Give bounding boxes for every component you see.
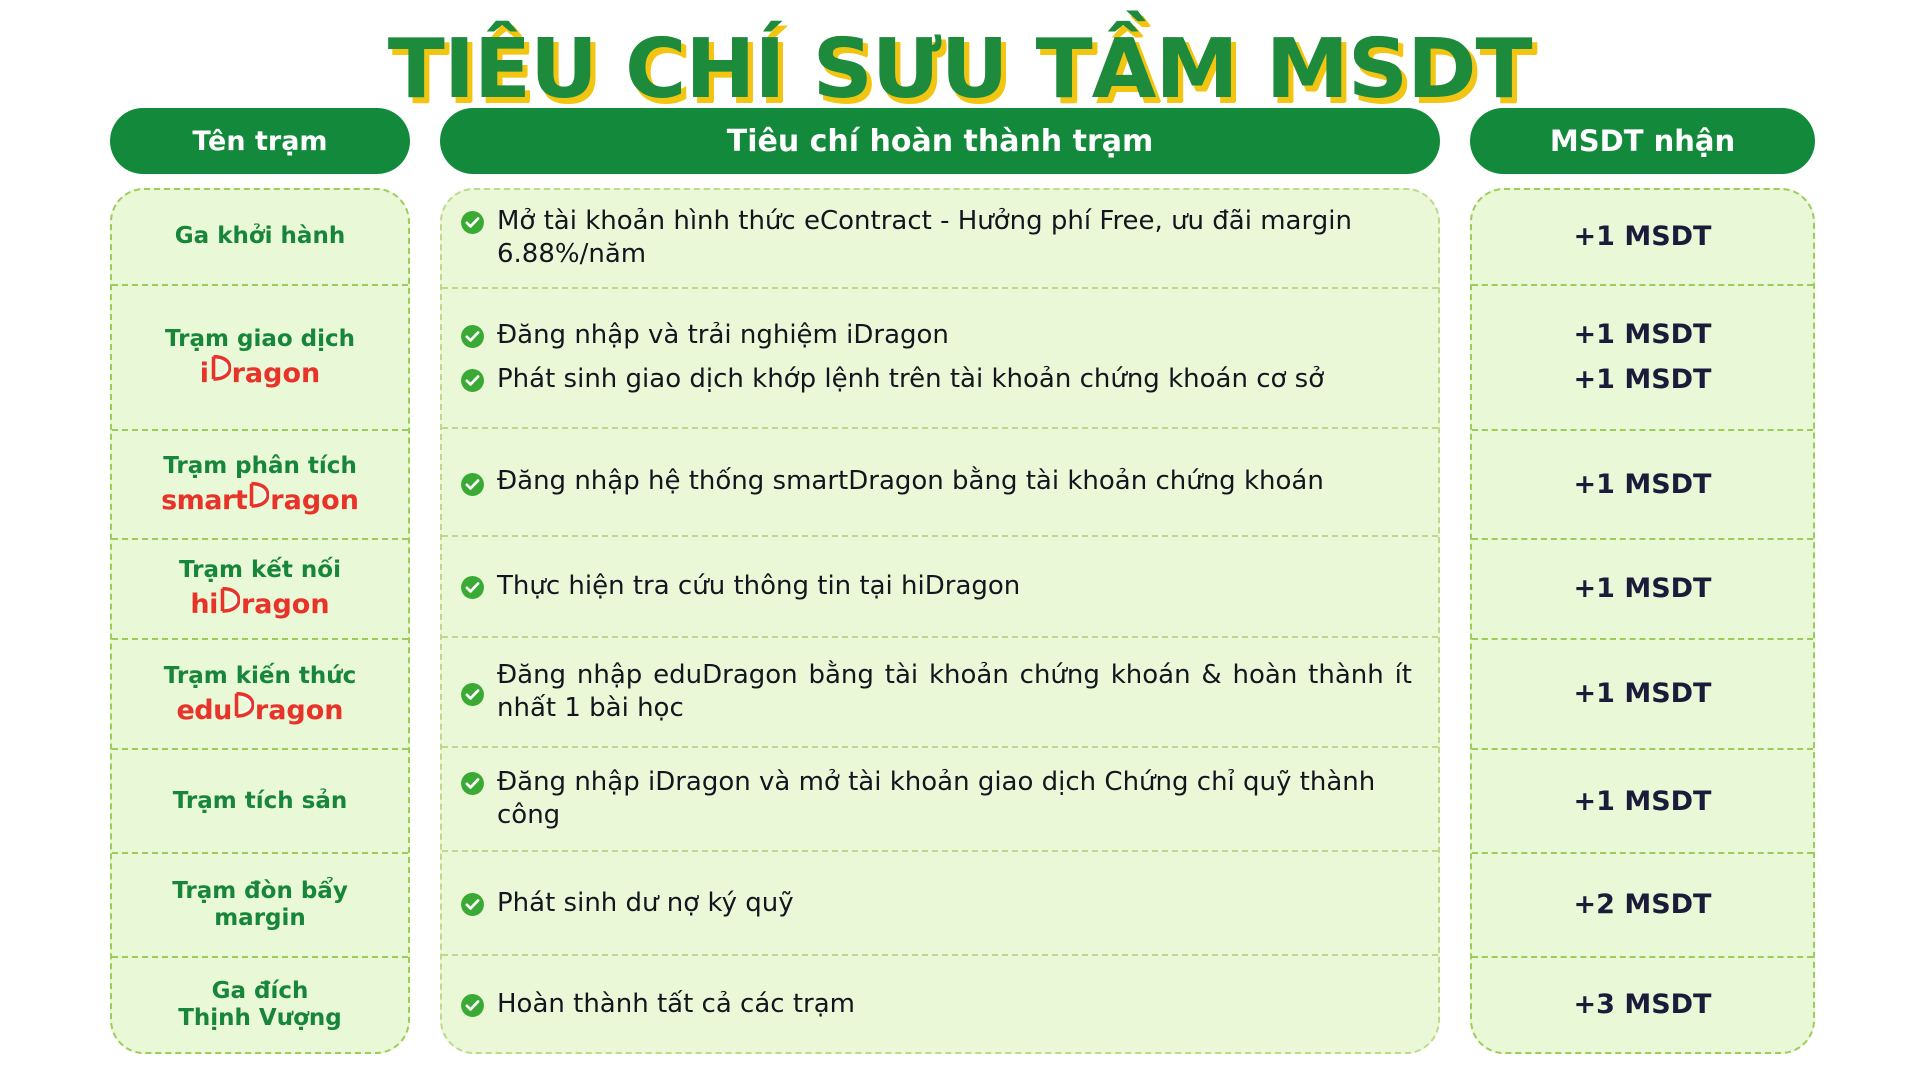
station-cell: Trạm đòn bẩymargin bbox=[112, 854, 408, 958]
msdt-cell: +3 MSDT bbox=[1472, 958, 1813, 1052]
brand-prefix: edu bbox=[176, 696, 231, 726]
criteria-item: Đăng nhập hệ thống smartDragon bằng tài … bbox=[460, 460, 1412, 503]
criteria-item: Mở tài khoản hình thức eContract - Hưởng… bbox=[460, 200, 1412, 277]
station-name-line: Trạm đòn bẩy bbox=[172, 878, 348, 905]
criteria-text: Đăng nhập và trải nghiệm iDragon bbox=[497, 319, 949, 352]
criteria-text: Đăng nhập hệ thống smartDragon bằng tài … bbox=[497, 465, 1324, 498]
msdt-value: +1 MSDT bbox=[1574, 221, 1712, 252]
dragon-brand-logo: eduragon bbox=[176, 692, 343, 726]
station-cell: Ga đíchThịnh Vượng bbox=[112, 958, 408, 1052]
msdt-value: +1 MSDT bbox=[1574, 786, 1712, 817]
criteria-item: Phát sinh dư nợ ký quỹ bbox=[460, 882, 1412, 925]
dragon-brand-logo: iragon bbox=[200, 355, 320, 389]
criteria-cell: Hoàn thành tất cả các trạm bbox=[442, 956, 1438, 1052]
criteria-cell: Đăng nhập và trải nghiệm iDragonPhát sin… bbox=[442, 289, 1438, 429]
station-cell: Trạm kết nốihiragon bbox=[112, 540, 408, 640]
table-header-msdt: MSDT nhận bbox=[1470, 108, 1815, 174]
brand-suffix: ragon bbox=[255, 696, 344, 726]
station-name-line: Trạm kết nối bbox=[179, 557, 341, 584]
dragon-brand-logo: smartragon bbox=[161, 482, 359, 516]
criteria-text: Mở tài khoản hình thức eContract - Hưởng… bbox=[497, 205, 1412, 272]
brand-prefix: i bbox=[200, 359, 209, 389]
msdt-cell: +1 MSDT bbox=[1472, 750, 1813, 854]
criteria-text: Hoàn thành tất cả các trạm bbox=[497, 988, 855, 1021]
brand-suffix: ragon bbox=[270, 486, 359, 516]
criteria-cell: Đăng nhập iDragon và mở tài khoản giao d… bbox=[442, 748, 1438, 852]
station-name-line: Thịnh Vượng bbox=[178, 1005, 342, 1032]
check-circle-icon bbox=[460, 575, 485, 600]
station-name-line: Ga đích bbox=[212, 978, 309, 1005]
criteria-cell: Phát sinh dư nợ ký quỹ bbox=[442, 852, 1438, 956]
dragon-brand-logo: hiragon bbox=[190, 586, 329, 620]
criteria-item: Đăng nhập eduDragon bằng tài khoản chứng… bbox=[460, 654, 1412, 731]
criteria-cell: Đăng nhập hệ thống smartDragon bằng tài … bbox=[442, 429, 1438, 538]
msdt-value: +1 MSDT bbox=[1574, 573, 1712, 604]
msdt-cell: +1 MSDT bbox=[1472, 190, 1813, 286]
criteria-text: Phát sinh dư nợ ký quỹ bbox=[497, 887, 794, 920]
dragon-d-logo-icon bbox=[219, 586, 240, 613]
station-name-line: Trạm giao dịch bbox=[165, 326, 355, 353]
criteria-item: Thực hiện tra cứu thông tin tại hiDragon bbox=[460, 565, 1412, 608]
brand-prefix: hi bbox=[190, 590, 217, 620]
criteria-item: Đăng nhập và trải nghiệm iDragon bbox=[460, 314, 1412, 357]
check-circle-icon bbox=[460, 682, 485, 707]
criteria-column: Mở tài khoản hình thức eContract - Hưởng… bbox=[440, 188, 1440, 1054]
check-circle-icon bbox=[460, 993, 485, 1018]
dragon-d-logo-icon bbox=[210, 355, 231, 382]
station-cell: Trạm phân tíchsmartragon bbox=[112, 431, 408, 540]
station-name-line: Ga khởi hành bbox=[175, 223, 345, 250]
station-name-column: Ga khởi hànhTrạm giao dịchiragonTrạm phâ… bbox=[110, 188, 410, 1054]
check-circle-icon bbox=[460, 892, 485, 917]
station-cell: Trạm kiến thứceduragon bbox=[112, 640, 408, 751]
station-cell: Trạm tích sản bbox=[112, 750, 408, 854]
check-circle-icon bbox=[460, 324, 485, 349]
dragon-d-logo-icon bbox=[248, 482, 269, 509]
station-cell: Ga khởi hành bbox=[112, 190, 408, 286]
check-circle-icon bbox=[460, 771, 485, 796]
msdt-cell: +1 MSDT bbox=[1472, 540, 1813, 640]
msdt-cell: +1 MSDT bbox=[1472, 431, 1813, 540]
brand-prefix: smart bbox=[161, 486, 247, 516]
msdt-value: +2 MSDT bbox=[1574, 889, 1712, 920]
msdt-value: +1 MSDT bbox=[1574, 364, 1712, 395]
criteria-item: Đăng nhập iDragon và mở tài khoản giao d… bbox=[460, 761, 1412, 838]
check-circle-icon bbox=[460, 210, 485, 235]
msdt-value: +1 MSDT bbox=[1574, 469, 1712, 500]
table-header-criteria: Tiêu chí hoàn thành trạm bbox=[440, 108, 1440, 174]
criteria-cell: Đăng nhập eduDragon bằng tài khoản chứng… bbox=[442, 638, 1438, 748]
msdt-cell: +2 MSDT bbox=[1472, 854, 1813, 958]
page-title: TIÊU CHÍ SƯU TẦM MSDT bbox=[388, 22, 1532, 117]
poster-root: TIÊU CHÍ SƯU TẦM MSDT Tên trạm Tiêu chí … bbox=[0, 0, 1920, 1080]
station-name-line: margin bbox=[214, 905, 306, 932]
criteria-text: Đăng nhập iDragon và mở tài khoản giao d… bbox=[497, 766, 1412, 833]
msdt-value: +3 MSDT bbox=[1574, 989, 1712, 1020]
criteria-text: Đăng nhập eduDragon bằng tài khoản chứng… bbox=[497, 659, 1412, 726]
station-name-line: Trạm tích sản bbox=[173, 788, 347, 815]
check-circle-icon bbox=[460, 472, 485, 497]
station-name-line: Trạm kiến thức bbox=[164, 663, 357, 690]
dragon-d-logo-icon bbox=[233, 692, 254, 719]
brand-suffix: ragon bbox=[232, 359, 321, 389]
criteria-item: Hoàn thành tất cả các trạm bbox=[460, 983, 1412, 1026]
criteria-cell: Mở tài khoản hình thức eContract - Hưởng… bbox=[442, 190, 1438, 289]
brand-suffix: ragon bbox=[241, 590, 330, 620]
msdt-value: +1 MSDT bbox=[1574, 678, 1712, 709]
table-header-station-name: Tên trạm bbox=[110, 108, 410, 174]
criteria-text: Thực hiện tra cứu thông tin tại hiDragon bbox=[497, 570, 1020, 603]
page-title-wrapper: TIÊU CHÍ SƯU TẦM MSDT bbox=[0, 0, 1920, 108]
criteria-cell: Thực hiện tra cứu thông tin tại hiDragon bbox=[442, 537, 1438, 638]
check-circle-icon bbox=[460, 368, 485, 393]
criteria-item: Phát sinh giao dịch khớp lệnh trên tài k… bbox=[460, 358, 1412, 401]
msdt-value: +1 MSDT bbox=[1574, 319, 1712, 350]
criteria-text: Phát sinh giao dịch khớp lệnh trên tài k… bbox=[497, 363, 1324, 396]
station-name-line: Trạm phân tích bbox=[163, 453, 357, 480]
msdt-cell: +1 MSDT+1 MSDT bbox=[1472, 286, 1813, 431]
msdt-column: +1 MSDT+1 MSDT+1 MSDT+1 MSDT+1 MSDT+1 MS… bbox=[1470, 188, 1815, 1054]
msdt-cell: +1 MSDT bbox=[1472, 640, 1813, 751]
criteria-table: Tên trạm Tiêu chí hoàn thành trạm MSDT n… bbox=[0, 108, 1920, 1054]
station-cell: Trạm giao dịchiragon bbox=[112, 286, 408, 431]
